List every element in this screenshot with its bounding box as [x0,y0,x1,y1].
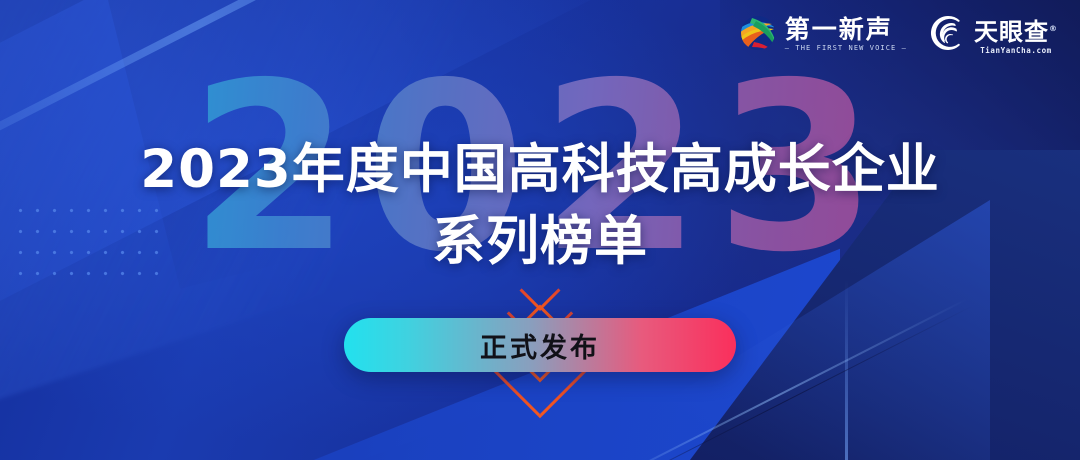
logo-bar: 第一新声 — THE FIRST NEW VOICE — 天眼查® TianYa… [738,14,1058,57]
promo-banner: 2023 2023年度中国高科技高成长企业 系列榜单 正式发布 [0,0,1080,460]
bg-edge-line [845,280,848,460]
logo-tianyancha[interactable]: 天眼查® TianYanCha.com [929,14,1058,57]
logo-tianyancha-cn-label: 天眼查 [974,18,1049,46]
headline-line-1: 2023年度中国高科技高成长企业 [140,139,940,200]
logo-tianyancha-text: 天眼查® TianYanCha.com [974,16,1058,56]
logo-tianyancha-cn: 天眼查® [974,16,1058,45]
release-status-pill[interactable]: 正式发布 [344,318,736,372]
logo-tianyancha-en: TianYanCha.com [974,45,1058,56]
logo-diyixinsheng-en: — THE FIRST NEW VOICE — [785,43,907,54]
trademark-symbol: ® [1049,24,1058,33]
logo-diyixinsheng-cn: 第一新声 [785,17,907,43]
headline-line-2: 系列榜单 [0,206,1080,278]
swirl-globe-icon [738,14,778,57]
aperture-eye-icon [929,14,967,57]
logo-diyixinsheng[interactable]: 第一新声 — THE FIRST NEW VOICE — [738,14,907,57]
logo-diyixinsheng-text: 第一新声 — THE FIRST NEW VOICE — [785,17,907,54]
page-title: 2023年度中国高科技高成长企业 系列榜单 [0,134,1080,278]
